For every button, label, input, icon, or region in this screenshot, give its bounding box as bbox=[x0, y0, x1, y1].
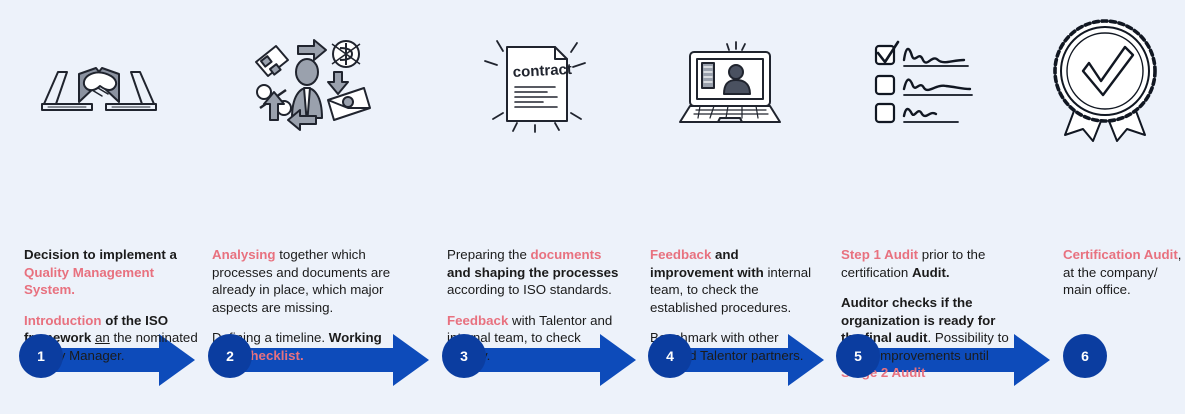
contract-document-icon: contract bbox=[477, 29, 593, 135]
process-analysis-icon bbox=[242, 28, 372, 136]
description-paragraph: Decision to implement a Quality Manageme… bbox=[24, 246, 199, 299]
step-number-6[interactable]: 6 bbox=[1063, 334, 1107, 378]
step-2-icon-cell bbox=[232, 14, 382, 149]
description-paragraph: Feedback and improvement with internal t… bbox=[650, 246, 820, 316]
icon-row: contract bbox=[0, 0, 1185, 155]
text-run: Feedback bbox=[650, 247, 711, 262]
text-run: Introduction bbox=[24, 313, 102, 328]
iso-certification-process-infographic: contract bbox=[0, 0, 1185, 414]
text-run: Quality Management System. bbox=[24, 265, 154, 298]
step-4-icon-cell bbox=[665, 14, 795, 149]
step-number-1[interactable]: 1 bbox=[19, 334, 63, 378]
text-run: and shaping the processes bbox=[447, 265, 618, 280]
step-number-1-label: 1 bbox=[37, 349, 45, 363]
step-3-icon-cell: contract bbox=[470, 14, 600, 149]
text-run: Feedback bbox=[447, 313, 508, 328]
certification-badge-icon bbox=[1043, 11, 1167, 147]
text-run: Step 1 Audit bbox=[841, 247, 918, 262]
text-run: documents bbox=[531, 247, 602, 262]
checklist-icon bbox=[866, 34, 980, 130]
laptop-video-call-icon bbox=[670, 32, 790, 132]
text-run: Audit. bbox=[912, 265, 950, 280]
step-number-5[interactable]: 5 bbox=[836, 334, 880, 378]
step-number-3-label: 3 bbox=[460, 349, 468, 363]
text-run: according to ISO standards. bbox=[447, 282, 612, 297]
step-number-4[interactable]: 4 bbox=[648, 334, 692, 378]
step-number-4-label: 4 bbox=[666, 349, 674, 363]
step-6-icon-cell bbox=[1040, 6, 1170, 152]
step-1-icon-cell bbox=[24, 14, 174, 149]
description-paragraph: Analysing together which processes and d… bbox=[212, 246, 397, 316]
text-run: Preparing the bbox=[447, 247, 531, 262]
text-run: an bbox=[95, 330, 110, 345]
step-number-2-label: 2 bbox=[226, 349, 234, 363]
text-run: Analysing bbox=[212, 247, 276, 262]
step-number-2[interactable]: 2 bbox=[208, 334, 252, 378]
description-paragraph: Certification Audit, at the company/ mai… bbox=[1063, 246, 1183, 299]
svg-text:contract: contract bbox=[512, 60, 572, 80]
step-5-icon-cell bbox=[858, 14, 988, 149]
step-arrow-row: 1 2 3 4 5 6 bbox=[0, 160, 1185, 236]
text-run: checklist. bbox=[243, 348, 304, 363]
text-run: Decision to implement a bbox=[24, 247, 177, 262]
step-number-3[interactable]: 3 bbox=[442, 334, 486, 378]
text-run: Certification Audit bbox=[1063, 247, 1178, 262]
handshake-laptop-icon bbox=[34, 42, 164, 122]
description-paragraph: Step 1 Audit prior to the certification … bbox=[841, 246, 1013, 281]
step-6-description: Certification Audit, at the company/ mai… bbox=[1063, 246, 1183, 299]
description-paragraph: Preparing the documents and shaping the … bbox=[447, 246, 627, 299]
step-number-5-label: 5 bbox=[854, 349, 862, 363]
step-number-6-label: 6 bbox=[1081, 349, 1089, 363]
